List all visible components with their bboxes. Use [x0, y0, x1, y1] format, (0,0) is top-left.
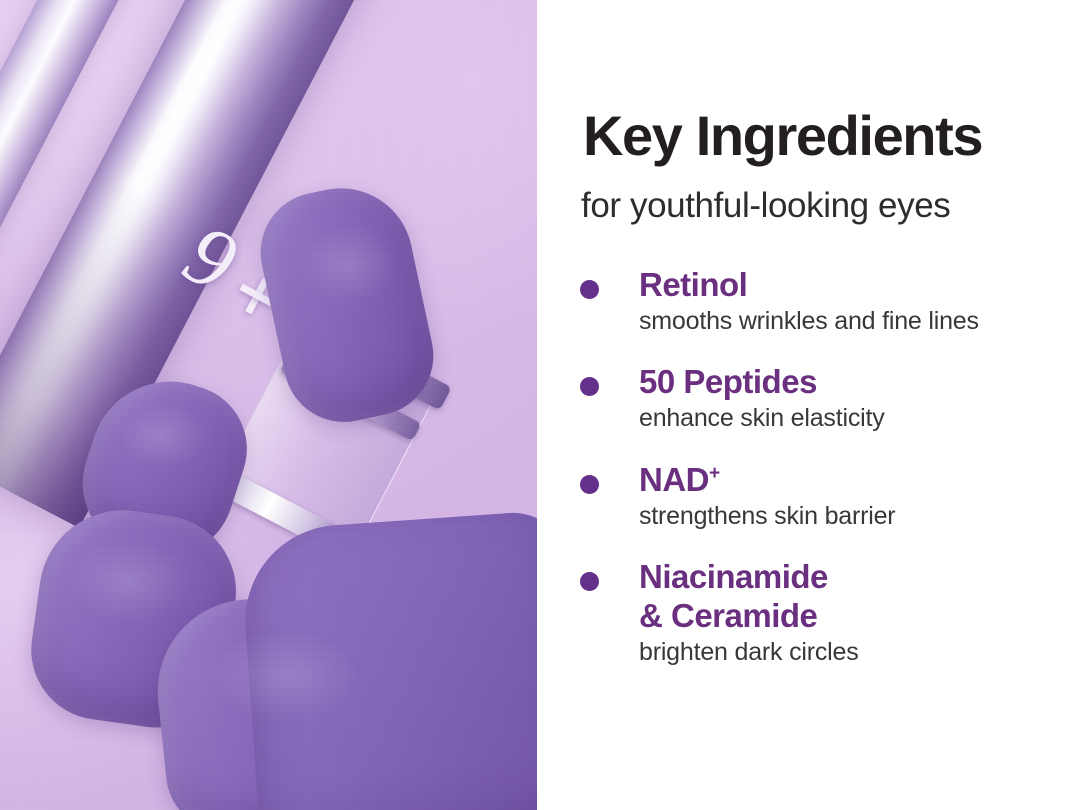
- list-item: Retinol smooths wrinkles and fine lines: [577, 266, 1037, 337]
- ingredient-term-text: Niacinamide: [639, 558, 828, 595]
- ingredient-term-text: NAD: [639, 461, 709, 498]
- bullet-dot-icon: [580, 377, 599, 396]
- ingredient-description: strengthens skin barrier: [639, 501, 1037, 533]
- ingredient-term-text: Retinol: [639, 266, 747, 303]
- tube-label-peptides: + 50 Peptides: [112, 0, 136, 17]
- ingredient-term-text: 50 Peptides: [639, 363, 817, 400]
- ingredient-description: brighten dark circles: [639, 637, 1037, 669]
- page-title: Key Ingredients: [583, 108, 982, 164]
- ingredient-description: smooths wrinkles and fine lines: [639, 306, 1037, 338]
- product-photo-panel: + 50 Peptides zin 9: [0, 0, 537, 810]
- ingredient-description: enhance skin elasticity: [639, 403, 1037, 435]
- ingredient-term: NAD+: [639, 461, 1037, 500]
- list-item: 50 Peptides enhance skin elasticity: [577, 363, 1037, 434]
- page-subtitle: for youthful-looking eyes: [581, 186, 950, 226]
- content-panel: Key Ingredients for youthful-looking eye…: [537, 0, 1080, 810]
- bullet-dot-icon: [580, 475, 599, 494]
- glove-knuckle-highlight: [300, 226, 396, 304]
- bullet-dot-icon: [580, 280, 599, 299]
- slide-root: + 50 Peptides zin 9: [0, 0, 1080, 810]
- list-item: Niacinamide& Ceramide brighten dark circ…: [577, 558, 1037, 668]
- ingredient-term-text-line2: & Ceramide: [639, 597, 817, 634]
- glove-knuckle-highlight: [70, 540, 190, 624]
- ingredient-term: 50 Peptides: [639, 363, 1037, 402]
- ingredient-term: Retinol: [639, 266, 1037, 305]
- bullet-dot-icon: [580, 572, 599, 591]
- product-tube-group: + 50 Peptides zin 9: [0, 0, 537, 810]
- ingredient-term: Niacinamide& Ceramide: [639, 558, 1037, 636]
- ingredient-term-superscript: +: [709, 463, 720, 484]
- glove-knuckle-highlight: [118, 404, 206, 468]
- ingredients-list: Retinol smooths wrinkles and fine lines …: [577, 266, 1037, 669]
- list-item: NAD+ strengthens skin barrier: [577, 461, 1037, 532]
- glove-knuckle-highlight: [210, 630, 360, 722]
